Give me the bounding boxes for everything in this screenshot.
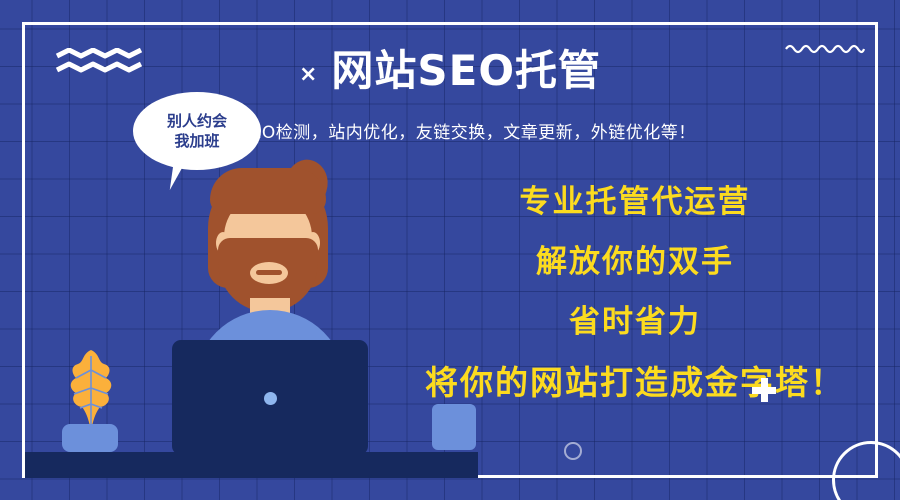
speech-bubble: 别人约会 我加班 [133, 92, 261, 170]
speech-bubble-line-1: 别人约会 [167, 111, 227, 131]
small-ring-icon [564, 442, 582, 460]
plus-icon [752, 378, 776, 402]
page-title-row: × 网站SEO托管 [0, 48, 900, 94]
pitch-list: 专业托管代运营 解放你的双手 省时省力 将你的网站打造成金字塔！ [390, 185, 880, 402]
page-title: 网站SEO托管 [331, 48, 601, 94]
mouth-line [256, 270, 282, 275]
pitch-line-3: 省时省力 [569, 305, 701, 339]
potted-plant-icon [62, 348, 120, 428]
pitch-line-1: 专业托管代运营 [520, 185, 751, 219]
pitch-line-2: 解放你的双手 [536, 245, 734, 279]
hair-front [210, 168, 326, 214]
accent-block [432, 404, 476, 450]
seo-hosting-banner: × 网站SEO托管 含：SEO检测，站内优化，友链交换，文章更新，外链优化等！ … [0, 0, 900, 500]
circle-outline-icon [832, 441, 900, 500]
plant-pot [62, 424, 118, 452]
title-bullet-mark: × [299, 64, 317, 86]
desk-surface [25, 452, 478, 478]
laptop-logo-dot [264, 392, 277, 405]
speech-bubble-line-2: 我加班 [174, 131, 219, 151]
pitch-line-4: 将你的网站打造成金字塔！ [425, 365, 845, 401]
